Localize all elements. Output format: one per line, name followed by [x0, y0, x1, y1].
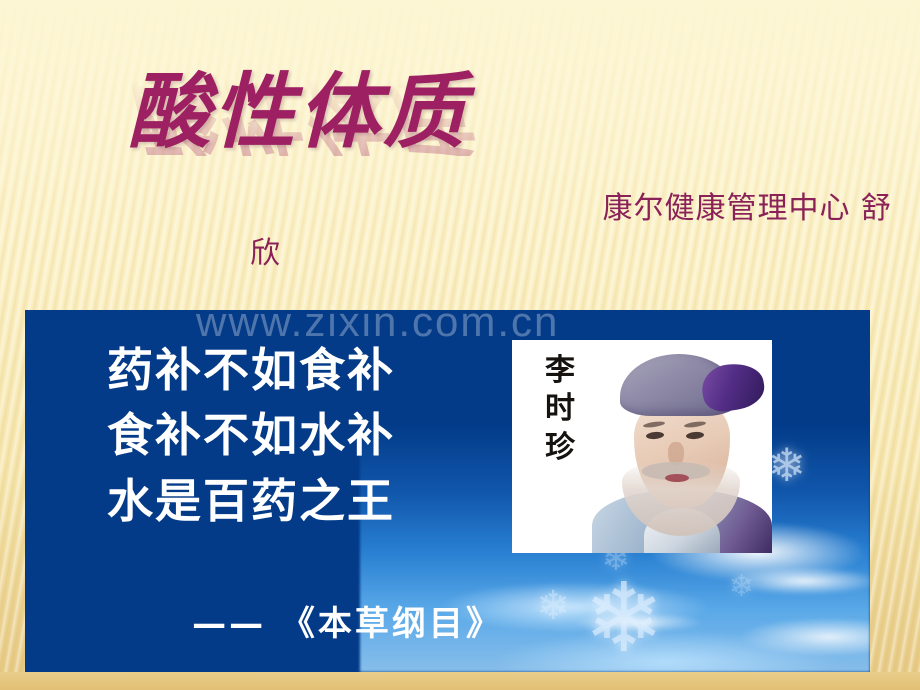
presenter-block: 康尔健康管理中心 舒 欣 [232, 186, 892, 276]
quote-attribution: —— 《本草纲目》 [25, 596, 870, 645]
quote-line-1: 药补不如食补 [107, 338, 395, 403]
presenter-organization: 康尔健康管理中心 舒 [602, 191, 892, 226]
snowflake-icon: ❄ [767, 442, 806, 488]
slide-title-reflection: 酸性体质 [128, 74, 748, 156]
portrait-illustration [590, 340, 772, 553]
portrait-name-char-3: 珍 [532, 429, 588, 467]
bottom-gold-band [0, 672, 920, 690]
quote-panel: ❄ ❄ ❄ ❄ ❄ ❄ 药补不如食补 食补不如水补 水是百药之王 李 时 珍 [25, 310, 870, 672]
quote-line-2: 食补不如水补 [107, 403, 395, 468]
quote-lines: 药补不如食补 食补不如水补 水是百药之王 [107, 338, 395, 534]
portrait-mouth [665, 474, 689, 482]
quote-line-3: 水是百药之王 [107, 469, 395, 534]
portrait-caption: 李 时 珍 [532, 352, 588, 467]
presentation-slide: 酸性体质 酸性体质 康尔健康管理中心 舒 欣 www.zixin.com.cn … [0, 0, 920, 690]
presenter-name: 欣 [232, 231, 892, 276]
portrait-name-char-1: 李 [532, 352, 588, 390]
portrait-image: 李 时 珍 [512, 340, 772, 553]
portrait-name-char-2: 时 [532, 390, 588, 428]
